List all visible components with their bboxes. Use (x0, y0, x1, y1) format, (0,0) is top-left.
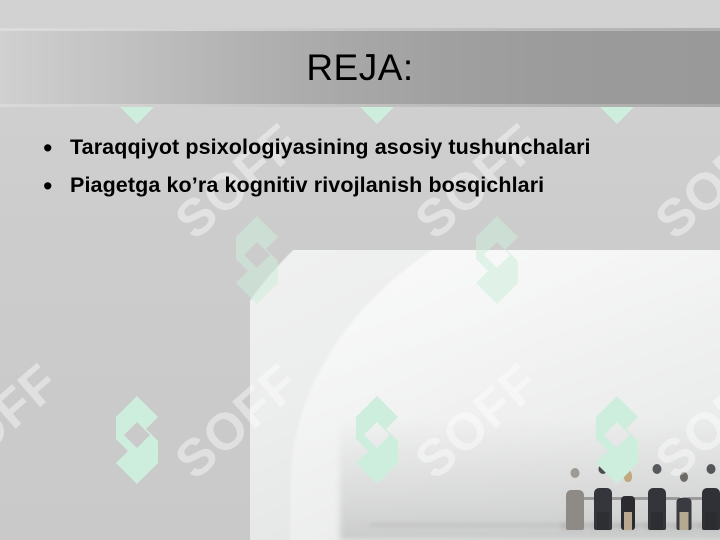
person-silhouette (646, 464, 668, 530)
bullet-marker: • (34, 131, 70, 165)
slide-body: • Taraqqiyot psixologiyasining asosiy tu… (34, 131, 690, 207)
person-silhouette (592, 464, 614, 530)
person-silhouette (674, 472, 694, 530)
person-silhouette (564, 468, 586, 530)
person-silhouette (619, 470, 637, 530)
person-silhouette (700, 464, 720, 530)
backdrop-photo (250, 250, 720, 540)
list-item: • Piagetga ko’ra kognitiv rivojlanish bo… (34, 169, 690, 203)
people-silhouettes (556, 458, 716, 530)
list-item: • Taraqqiyot psixologiyasining asosiy tu… (34, 131, 690, 165)
slide-title: REJA: (0, 28, 720, 107)
bullet-marker: • (34, 169, 70, 203)
presentation-slide: SOFF SOFF SOFF SOFF SOFF SOFF SOFF SOFF (0, 0, 720, 540)
bullet-text: Piagetga ko’ra kognitiv rivojlanish bosq… (70, 169, 600, 201)
bullet-text: Taraqqiyot psixologiyasining asosiy tush… (70, 131, 680, 163)
